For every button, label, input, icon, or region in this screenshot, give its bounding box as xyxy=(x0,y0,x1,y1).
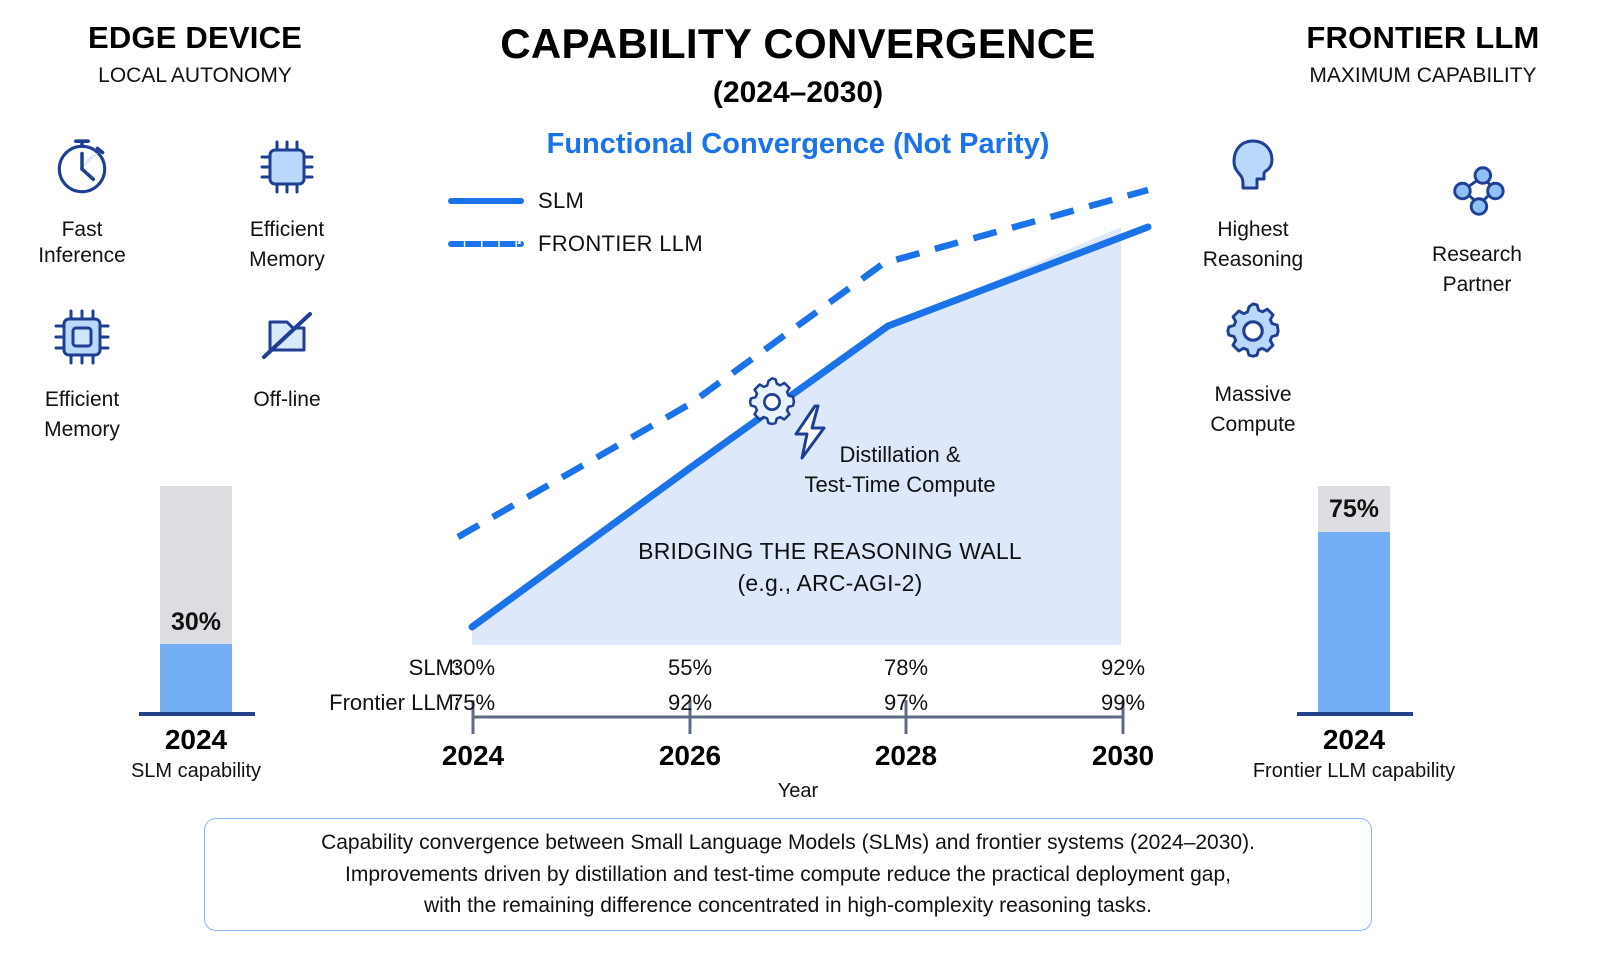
x-tick-label-2024: 2024 xyxy=(413,740,533,772)
cell-frontier-2028: 97% xyxy=(861,690,951,716)
series-value-table: SLM: Frontier LLM: 30% 55% 78% 92% 75% 9… xyxy=(0,0,1618,760)
x-tick-label-2030: 2030 xyxy=(1063,740,1183,772)
footer-line3: with the remaining difference concentrat… xyxy=(321,890,1255,922)
x-tick-label-2026: 2026 xyxy=(630,740,750,772)
cell-slm-2030: 92% xyxy=(1078,655,1168,681)
cell-slm-2026: 55% xyxy=(645,655,735,681)
cell-frontier-2024: 75% xyxy=(428,690,518,716)
cell-frontier-2026: 92% xyxy=(645,690,735,716)
x-tick-label-2028: 2028 xyxy=(846,740,966,772)
footer-line1: Capability convergence between Small Lan… xyxy=(321,827,1255,859)
footer-line2: Improvements driven by distillation and … xyxy=(321,859,1255,891)
cell-slm-2024: 30% xyxy=(428,655,518,681)
cell-slm-2028: 78% xyxy=(861,655,951,681)
footer-note-box: Capability convergence between Small Lan… xyxy=(204,818,1372,931)
x-axis-title: Year xyxy=(718,780,878,803)
footer-note-text: Capability convergence between Small Lan… xyxy=(301,827,1275,922)
cell-frontier-2030: 99% xyxy=(1078,690,1168,716)
